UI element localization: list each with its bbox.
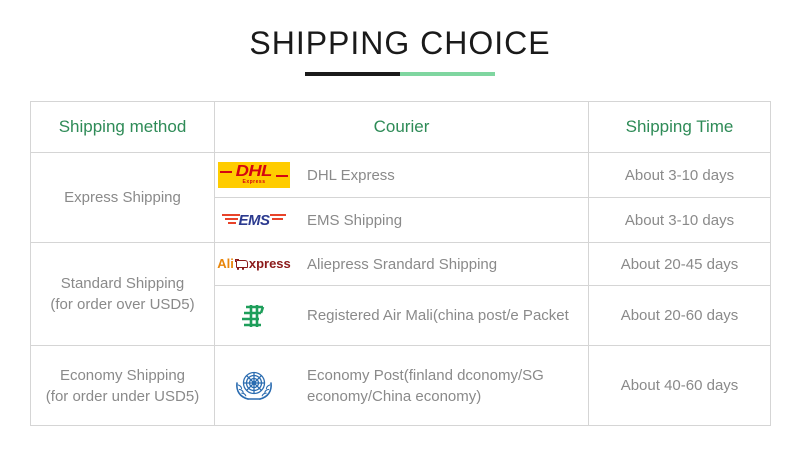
courier-cell-aliexpress: Ali xpress Aliepress Srandard Ship (215, 243, 589, 286)
method-cell-express-shipping: Express Shipping (31, 153, 215, 243)
dhl-bar-right (276, 175, 288, 177)
aliexpress-logo-xpress: xpress (249, 257, 291, 271)
courier-name: Registered Air Mali(china post/e Packet (307, 305, 569, 326)
united-nations-icon (232, 366, 276, 406)
time-cell: About 20-45 days (589, 243, 771, 286)
shopping-cart-icon (235, 259, 248, 270)
method-name: Standard Shipping (61, 275, 184, 292)
china-post-icon (237, 299, 271, 333)
aliexpress-logo: Ali xpress (215, 247, 293, 281)
title-divider-green-segment (400, 72, 495, 76)
method-note: (for order under USD5) (31, 386, 214, 407)
dhl-logo-subword: Express (243, 179, 266, 186)
courier-cell-china-post: Registered Air Mali(china post/e Packet (215, 286, 589, 346)
courier-name: Aliepress Srandard Shipping (307, 254, 497, 275)
china-post-logo (215, 299, 293, 333)
ems-stripe (270, 214, 286, 216)
table-row: Express Shipping DHL Express DHL Expr (31, 153, 771, 198)
dhl-logo: DHL Express (215, 158, 293, 192)
ems-logo: EMS (215, 203, 293, 237)
ems-stripe (222, 214, 240, 216)
table-header-row: Shipping method Courier Shipping Time (31, 102, 771, 153)
courier-name: Economy Post(finland dconomy/SG economy/… (307, 365, 588, 407)
time-cell: About 3-10 days (589, 153, 771, 198)
table-row: Economy Shipping (for order under USD5) (31, 346, 771, 426)
method-cell-standard-shipping: Standard Shipping (for order over USD5) (31, 243, 215, 346)
time-cell: About 20-60 days (589, 286, 771, 346)
courier-cell-dhl: DHL Express DHL Express (215, 153, 589, 198)
column-header-shipping-method: Shipping method (31, 102, 215, 153)
dhl-bar-left (220, 171, 232, 173)
table-row: Standard Shipping (for order over USD5) … (31, 243, 771, 286)
column-header-courier: Courier (215, 102, 589, 153)
time-cell: About 3-10 days (589, 198, 771, 243)
page-title: SHIPPING CHOICE (0, 24, 800, 62)
ems-logo-word: EMS (238, 212, 269, 229)
column-header-shipping-time: Shipping Time (589, 102, 771, 153)
method-cell-economy-shipping: Economy Shipping (for order under USD5) (31, 346, 215, 426)
title-block: SHIPPING CHOICE (0, 24, 800, 76)
un-logo (215, 369, 293, 403)
time-cell: About 40-60 days (589, 346, 771, 426)
method-name: Economy Shipping (60, 367, 185, 384)
title-divider (305, 72, 495, 76)
ems-stripe (228, 222, 236, 224)
courier-name: DHL Express (307, 165, 395, 186)
courier-name: EMS Shipping (307, 210, 402, 231)
ems-stripe (272, 218, 283, 220)
courier-cell-economy-post: Economy Post(finland dconomy/SG economy/… (215, 346, 589, 426)
title-divider-dark-segment (305, 72, 400, 76)
method-note: (for order over USD5) (31, 294, 214, 315)
method-name: Express Shipping (64, 189, 181, 206)
aliexpress-logo-ali: Ali (217, 257, 234, 271)
dhl-logo-word: DHL (236, 164, 272, 179)
courier-cell-ems: EMS EMS Shipping (215, 198, 589, 243)
shipping-options-table: Shipping method Courier Shipping Time Ex… (30, 101, 771, 426)
ems-stripe (225, 218, 238, 220)
shipping-choice-page: SHIPPING CHOICE Shipping method Courier … (0, 0, 800, 462)
